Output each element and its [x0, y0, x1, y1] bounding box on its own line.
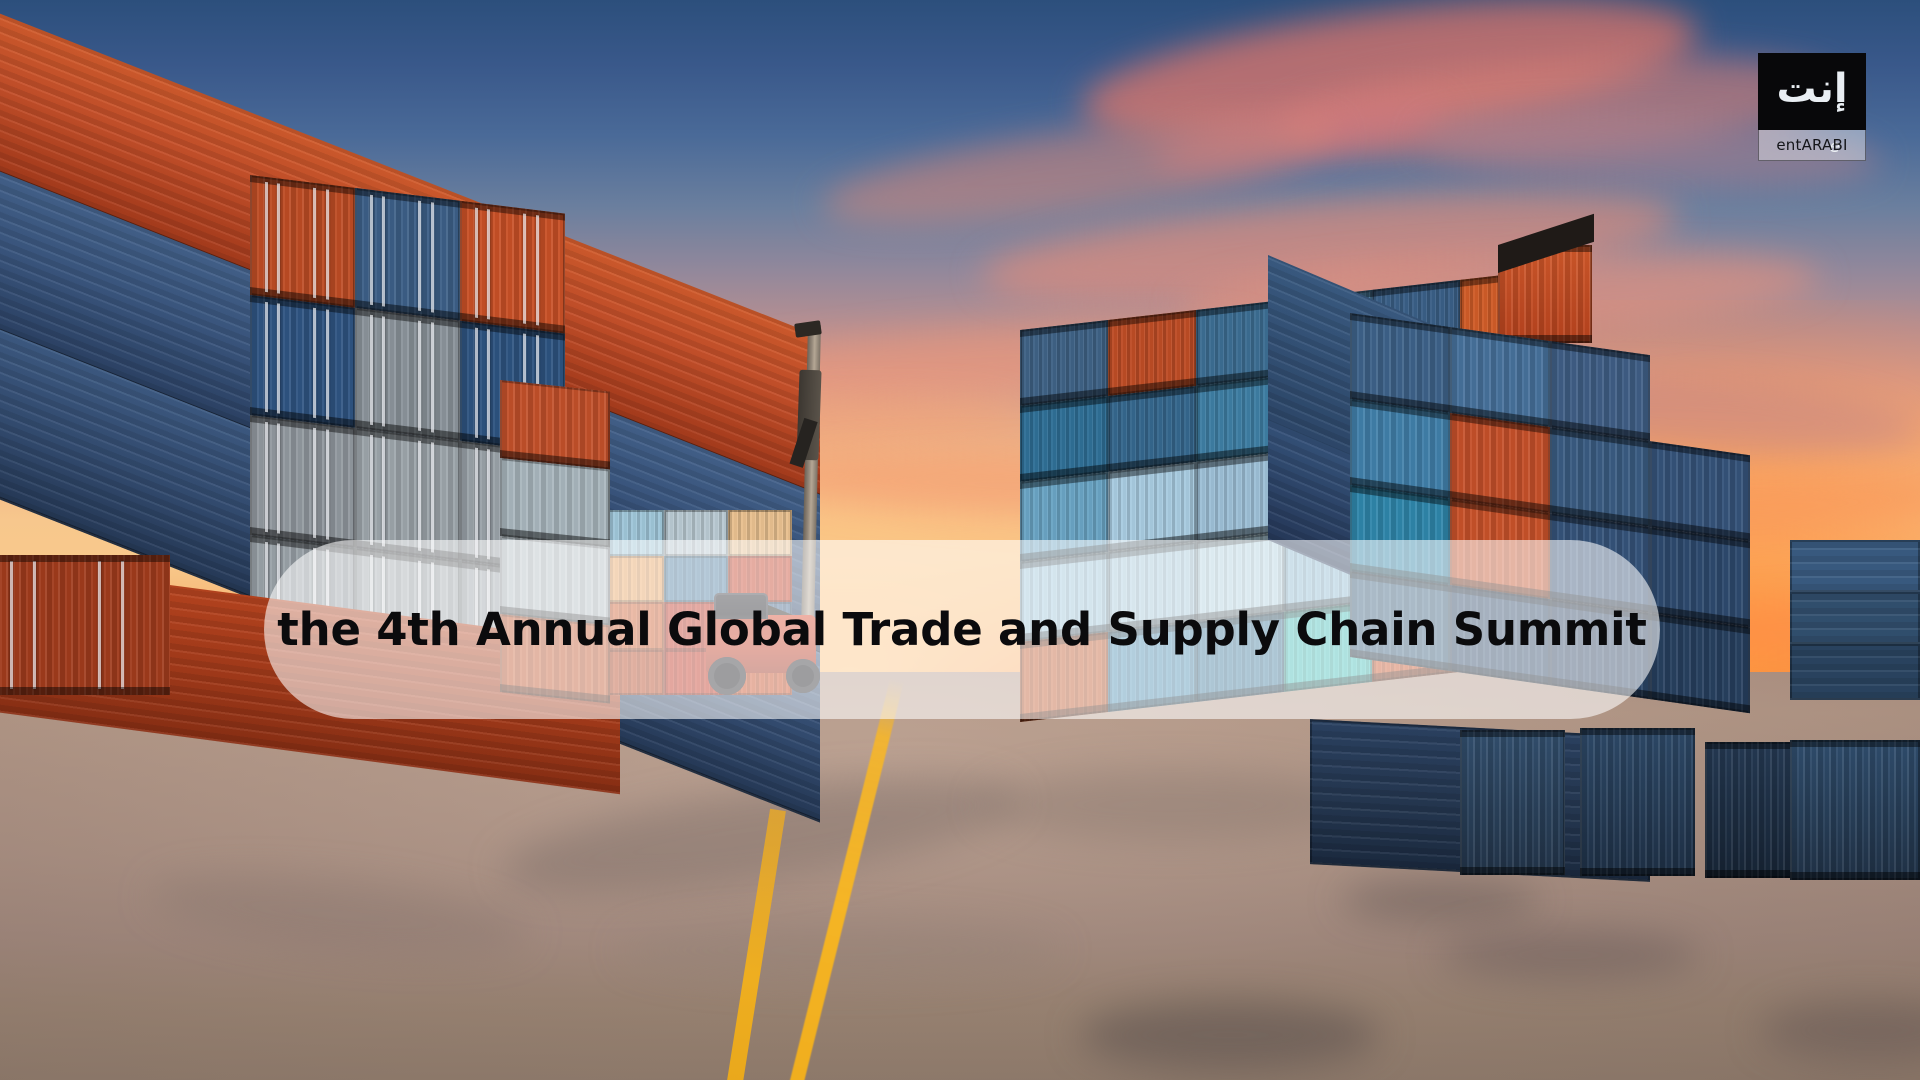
ground-stain — [1340, 880, 1540, 920]
container — [1450, 327, 1550, 427]
container — [1450, 413, 1550, 513]
title-banner-text: the 4th Annual Global Trade and Supply C… — [264, 540, 1660, 719]
container — [1790, 540, 1920, 592]
logo-arabic-text: إنت — [1758, 53, 1866, 130]
container-doors — [250, 175, 355, 308]
container — [1550, 427, 1650, 527]
ground-stain — [1080, 1000, 1380, 1070]
container — [1108, 310, 1196, 396]
logo-wordmark: entARABI — [1758, 130, 1866, 161]
ground-stain — [980, 770, 1360, 840]
container — [1650, 527, 1750, 627]
container-doors — [355, 188, 460, 321]
promo-banner-image: the 4th Annual Global Trade and Supply C… — [0, 0, 1920, 1080]
container — [1650, 613, 1750, 713]
container — [1020, 320, 1108, 406]
container — [1790, 592, 1920, 644]
container — [1350, 313, 1450, 413]
container — [500, 458, 610, 548]
container — [500, 380, 610, 470]
container-far-right — [1790, 540, 1920, 700]
container-doors — [460, 201, 565, 334]
container-doors — [1460, 730, 1565, 875]
container — [1108, 462, 1196, 552]
container — [1650, 441, 1750, 541]
container — [1550, 341, 1650, 441]
container-foreground-orange-doors — [0, 555, 170, 695]
container — [1790, 644, 1920, 700]
container-doors — [355, 308, 460, 441]
container-doors — [1580, 728, 1695, 876]
container-doors — [1790, 740, 1920, 880]
container-foreground-right-group — [1350, 700, 1920, 875]
ground-stain — [1440, 930, 1700, 980]
entarabi-logo[interactable]: إنت e entARABI — [1758, 53, 1866, 161]
container-doors — [250, 295, 355, 428]
container — [1350, 399, 1450, 499]
container — [1020, 396, 1108, 482]
container-doors — [250, 415, 355, 548]
container — [1108, 386, 1196, 472]
container-doors — [1705, 742, 1800, 878]
